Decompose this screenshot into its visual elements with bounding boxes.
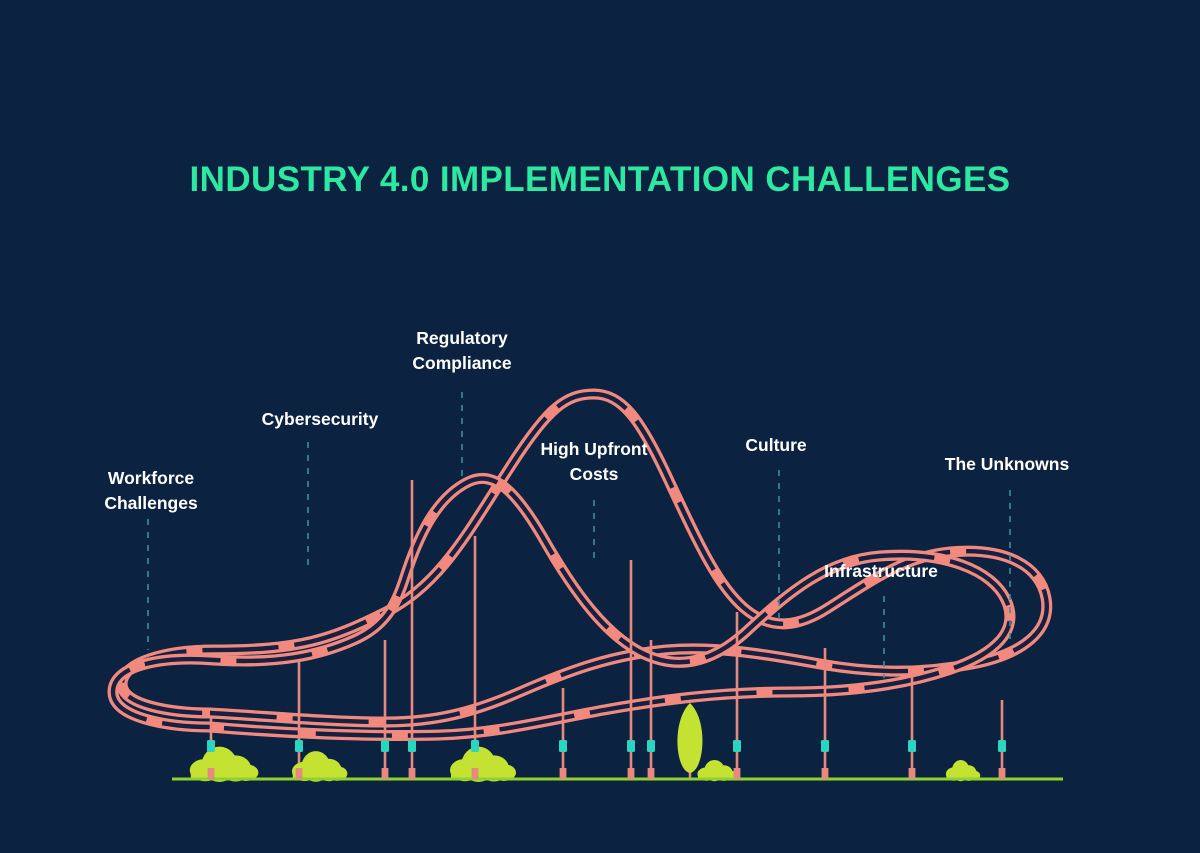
post-marker-icon <box>733 740 741 752</box>
support-post-foot <box>208 768 215 779</box>
post-marker-icon <box>647 740 655 752</box>
callout-label-high-upfront-costs[interactable]: High Upfront Costs <box>541 437 648 487</box>
bush <box>450 747 516 782</box>
track-b-ties <box>113 478 1010 735</box>
support-post-foot <box>382 768 389 779</box>
callout-connectors-group <box>148 392 1010 678</box>
callout-label-culture[interactable]: Culture <box>745 433 806 458</box>
tree <box>677 703 702 779</box>
support-post-foot <box>409 768 416 779</box>
callout-label-regulatory-compliance[interactable]: Regulatory Compliance <box>412 326 511 376</box>
roller-coaster-illustration <box>0 0 1200 853</box>
callout-label-cybersecurity[interactable]: Cybersecurity <box>262 407 379 432</box>
support-post-foot <box>822 768 829 779</box>
post-marker-icon <box>821 740 829 752</box>
support-post-foot <box>909 768 916 779</box>
support-post-foot <box>472 768 479 779</box>
post-marker-icon <box>207 740 215 752</box>
support-post-foot <box>560 768 567 779</box>
post-marker-icon <box>471 740 479 752</box>
support-post-foot <box>648 768 655 779</box>
post-marker-icon <box>381 740 389 752</box>
callout-label-infrastructure[interactable]: Infrastructure <box>824 559 938 584</box>
track-b-core <box>113 478 1010 735</box>
callout-label-workforce-challenges[interactable]: Workforce Challenges <box>104 466 197 516</box>
post-marker-icon <box>627 740 635 752</box>
callout-label-the-unknowns[interactable]: The Unknowns <box>945 452 1069 477</box>
support-post-foot <box>628 768 635 779</box>
post-marker-icon <box>998 740 1006 752</box>
infographic-canvas: INDUSTRY 4.0 IMPLEMENTATION CHALLENGES W… <box>0 0 1200 853</box>
post-marker-icon <box>559 740 567 752</box>
support-post-foot <box>296 768 303 779</box>
post-marker-icon <box>408 740 416 752</box>
bush <box>190 747 259 782</box>
support-post-foot <box>999 768 1006 779</box>
post-markers-group <box>207 740 1006 752</box>
support-post-foot <box>734 768 741 779</box>
post-marker-icon <box>908 740 916 752</box>
post-marker-icon <box>295 740 303 752</box>
track-b-rail <box>113 478 1010 735</box>
